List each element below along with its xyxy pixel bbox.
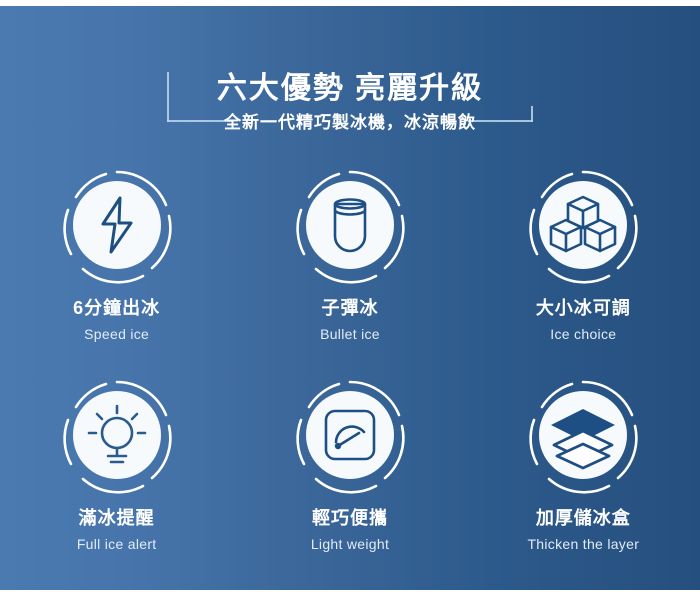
feature-subtitle: Thicken the layer xyxy=(527,535,639,553)
feature-title: 輕巧便攜 xyxy=(312,506,388,530)
main-title: 六大優勢 亮麗升級 xyxy=(0,68,700,110)
sub-title: 全新一代精巧製冰機，冰涼暢飲 xyxy=(0,110,700,136)
feature-title: 6分鐘出冰 xyxy=(73,296,160,320)
icon-badge xyxy=(291,166,409,284)
feature-title: 加厚儲冰盒 xyxy=(536,506,631,530)
icon-badge xyxy=(291,376,409,494)
feature-item-full-ice-alert: 滿冰提醒 Full ice alert xyxy=(0,370,233,580)
feature-title: 滿冰提醒 xyxy=(79,506,155,530)
feature-item-ice-choice: 大小冰可調 Ice choice xyxy=(467,160,700,370)
icon-badge xyxy=(524,376,642,494)
feature-subtitle: Ice choice xyxy=(550,325,616,343)
icon-badge xyxy=(524,166,642,284)
lightning-bolt-icon xyxy=(58,166,176,284)
feature-subtitle: Light weight xyxy=(311,535,389,553)
feature-subtitle: Speed ice xyxy=(84,325,149,343)
feature-subtitle: Full ice alert xyxy=(77,535,157,553)
feature-item-light-weight: 輕巧便攜 Light weight xyxy=(233,370,466,580)
feature-title: 大小冰可調 xyxy=(536,296,631,320)
feature-item-speed-ice: 6分鐘出冰 Speed ice xyxy=(0,160,233,370)
icon-badge xyxy=(58,166,176,284)
layers-stack-icon xyxy=(524,376,642,494)
feature-item-bullet-ice: 子彈冰 Bullet ice xyxy=(233,160,466,370)
gauge-meter-icon xyxy=(291,376,409,494)
bullet-ice-cylinder-icon xyxy=(291,166,409,284)
feature-title: 子彈冰 xyxy=(321,296,378,320)
ice-cubes-icon xyxy=(524,166,642,284)
promo-poster: 六大優勢 亮麗升級 全新一代精巧製冰機，冰涼暢飲 xyxy=(0,0,700,600)
feature-subtitle: Bullet ice xyxy=(320,325,380,343)
poster-header: 六大優勢 亮麗升級 全新一代精巧製冰機，冰涼暢飲 xyxy=(0,30,700,150)
feature-item-thicken-layer: 加厚儲冰盒 Thicken the layer xyxy=(467,370,700,580)
feature-grid: 6分鐘出冰 Speed ice xyxy=(0,160,700,580)
light-bulb-icon xyxy=(58,376,176,494)
icon-badge xyxy=(58,376,176,494)
